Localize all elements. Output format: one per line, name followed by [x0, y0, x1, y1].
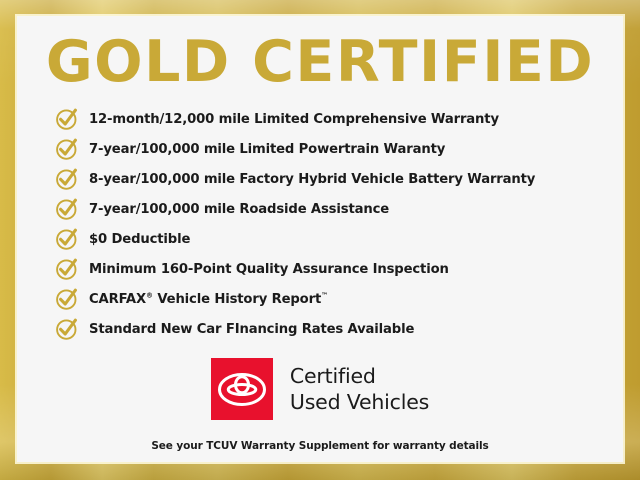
gold-certified-badge: GOLD CERTIFIED 12-month/12,000 mile Limi…: [0, 0, 640, 480]
feature-item-label: $0 Deductible: [89, 232, 190, 247]
check-circle-icon: [55, 137, 79, 161]
feature-item-label-continued: Vehicle History Report: [153, 292, 321, 307]
feature-item-label: 12-month/12,000 mile Limited Comprehensi…: [89, 112, 499, 127]
check-circle-icon: [55, 197, 79, 221]
feature-item-label: Minimum 160-Point Quality Assurance Insp…: [89, 262, 449, 277]
feature-item: 7-year/100,000 mile Limited Powertrain W…: [55, 134, 615, 164]
registered-mark: ®: [146, 291, 153, 299]
feature-item: 7-year/100,000 mile Roadside Assistance: [55, 194, 615, 224]
feature-item: Minimum 160-Point Quality Assurance Insp…: [55, 254, 615, 284]
check-circle-icon: [55, 287, 79, 311]
warranty-footnote: See your TCUV Warranty Supplement for wa…: [17, 440, 623, 452]
feature-item-label: 7-year/100,000 mile Limited Powertrain W…: [89, 142, 445, 157]
brand-line-1: Certified: [290, 363, 429, 389]
feature-item-label: 7-year/100,000 mile Roadside Assistance: [89, 202, 389, 217]
check-circle-icon: [55, 317, 79, 341]
toyota-lockup-text: Certified Used Vehicles: [290, 363, 429, 415]
check-circle-icon: [55, 227, 79, 251]
feature-list: 12-month/12,000 mile Limited Comprehensi…: [55, 104, 615, 344]
check-circle-icon: [55, 107, 79, 131]
toyota-certified-used-vehicles-lockup: Certified Used Vehicles: [17, 358, 623, 420]
feature-item: 8-year/100,000 mile Factory Hybrid Vehic…: [55, 164, 615, 194]
check-circle-icon: [55, 257, 79, 281]
feature-item: CARFAX® Vehicle History Report™: [55, 284, 615, 314]
toyota-emblem-icon: [211, 358, 273, 420]
feature-item: $0 Deductible: [55, 224, 615, 254]
feature-item-label: CARFAX® Vehicle History Report™: [89, 292, 328, 307]
feature-item: Standard New Car FInancing Rates Availab…: [55, 314, 615, 344]
feature-item-label: Standard New Car FInancing Rates Availab…: [89, 322, 414, 337]
trademark-mark: ™: [321, 291, 328, 299]
check-circle-icon: [55, 167, 79, 191]
brand-line-2: Used Vehicles: [290, 389, 429, 415]
page-title: GOLD CERTIFIED: [17, 30, 623, 94]
feature-item-label: 8-year/100,000 mile Factory Hybrid Vehic…: [89, 172, 535, 187]
badge-card: GOLD CERTIFIED 12-month/12,000 mile Limi…: [17, 16, 623, 462]
feature-item: 12-month/12,000 mile Limited Comprehensi…: [55, 104, 615, 134]
